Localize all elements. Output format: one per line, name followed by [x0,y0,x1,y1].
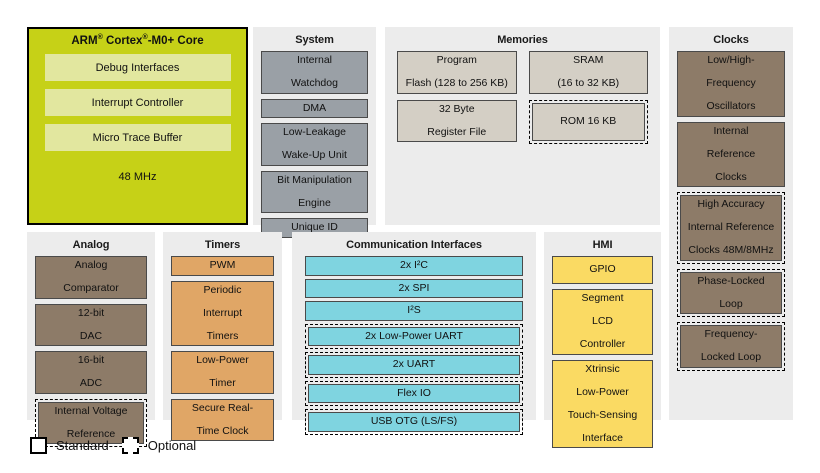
block-label-line: Interface [582,433,623,445]
block-system-low-leakage-wake-up-unit: Low-LeakageWake-Up Unit [261,123,368,166]
block-label-line: Internal Voltage [55,406,128,418]
panel-communication-interfaces: Communication Interfaces 2x I²C2x SPII²S… [292,232,536,420]
block-label-line: Phase-Locked [697,276,764,288]
panel-title-system: System [253,27,376,51]
block-timers-pwm: PWM [171,256,274,276]
optional-outline-rom-16-kb: ROM 16 KB [529,100,649,144]
block-memories-rom-16-kb: ROM 16 KB [532,103,646,141]
block-stack-clocks: Low/High-FrequencyOscillatorsInternalRef… [669,51,793,379]
legend-optional-swatch-icon [122,437,139,454]
core-subblock-debug-interfaces: Debug Interfaces [45,54,231,81]
block-label-line: Low-Power [576,387,629,399]
block-comm-i2s: I²S [305,301,523,321]
block-analog-16-bit-adc: 16-bitADC [35,351,147,394]
core-subblock-label: Debug Interfaces [96,62,180,74]
block-label-line: PWM [210,260,236,272]
block-label-line: 2x UART [393,359,435,371]
block-hmi-segment-lcd-controller: SegmentLCDController [552,289,653,355]
optional-outline-2x-low-power-uart: 2x Low-Power UART [305,324,523,350]
block-label-line: Program [437,55,477,67]
block-system-dma: DMA [261,99,368,119]
block-label-line: Engine [298,198,331,210]
block-stack-communication: 2x I²C2x SPII²S2x Low-Power UART2x UARTF… [292,256,536,443]
block-label-line: DAC [80,331,102,343]
legend-item-optional: Optional [122,437,196,454]
block-label-line: Periodic [204,285,242,297]
core-subblock-micro-trace-buffer: Micro Trace Buffer [45,124,231,151]
optional-outline-flex-io: Flex IO [305,381,523,407]
legend: Standard Optional [30,437,196,454]
block-label-line: Frequency- [704,329,757,341]
block-label-line: Segment [581,293,623,305]
block-label-line: Xtrinsic [585,364,619,376]
panel-hmi: HMI GPIOSegmentLCDControllerXtrinsicLow-… [544,232,661,420]
block-label-line: Clocks [715,172,747,184]
optional-outline-frequency-locked-loop: Frequency-Locked Loop [677,322,785,371]
block-label-line: Timers [207,331,239,343]
block-label-line: 2x I²C [400,260,428,272]
optional-outline-2x-uart: 2x UART [305,352,523,378]
legend-standard-swatch-icon [30,437,47,454]
block-label-line: Reference [707,149,755,161]
block-memories-program-flash-128-to-256-kb: ProgramFlash (128 to 256 KB) [397,51,517,94]
block-label-line: Comparator [63,283,118,295]
block-clocks-internal-reference-clocks: InternalReferenceClocks [677,122,785,188]
block-comm-2x-low-power-uart: 2x Low-Power UART [308,327,520,347]
block-timers-low-power-timer: Low-PowerTimer [171,351,274,394]
panel-analog: Analog AnalogComparator12-bitDAC16-bitAD… [27,232,155,420]
block-stack-system: InternalWatchdogDMALow-LeakageWake-Up Un… [253,51,376,246]
block-clocks-high-accuracy-internal-reference-clocks-48m-8mhz: High AccuracyInternal ReferenceClocks 48… [680,195,782,261]
block-clocks-phase-locked-loop: Phase-LockedLoop [680,272,782,315]
block-diagram-canvas: ARM® Cortex®-M0+ Core Debug Interfaces I… [0,0,820,473]
block-label-line: High Accuracy [697,199,764,211]
block-label-line: LCD [592,316,613,328]
block-label-line: Internal Reference [688,222,774,234]
block-timers-periodic-interrupt-timers: PeriodicInterruptTimers [171,281,274,347]
block-label-line: Clocks 48M/8MHz [688,245,773,257]
block-label-line: Locked Loop [701,352,761,364]
panel-title-timers: Timers [163,232,282,256]
block-label-line: Internal [297,55,332,67]
block-comm-2x-i2c: 2x I²C [305,256,523,276]
panel-title-communication: Communication Interfaces [292,232,536,256]
block-label-line: Bit Manipulation [277,175,352,187]
block-label-line: Loop [719,299,742,311]
block-label-line: Low-Leakage [283,127,346,139]
memories-columns: ProgramFlash (128 to 256 KB)32 ByteRegis… [385,51,660,144]
block-label-line: Controller [580,339,626,351]
core-subblock-interrupt-controller: Interrupt Controller [45,89,231,116]
block-label-line: Flash (128 to 256 KB) [406,78,508,90]
core-title: ARM® Cortex®-M0+ Core [71,35,203,47]
block-label-line: Interrupt [203,308,242,320]
arm-cortex-m0-core-block: ARM® Cortex®-M0+ Core Debug Interfaces I… [27,27,248,225]
block-label-line: Touch-Sensing [568,410,637,422]
panel-title-hmi: HMI [544,232,661,256]
block-stack-memories-right: SRAM(16 to 32 KB)ROM 16 KB [529,51,649,144]
block-comm-2x-spi: 2x SPI [305,279,523,299]
block-label-line: 32 Byte [439,104,475,116]
block-memories-sram-16-to-32-kb: SRAM(16 to 32 KB) [529,51,649,94]
panel-title-clocks: Clocks [669,27,793,51]
block-memories-32-byte-register-file: 32 ByteRegister File [397,100,517,143]
core-frequency-label: 48 MHz [119,171,157,183]
block-label-line: Secure Real- [192,403,253,415]
block-label-line: Internal [713,126,748,138]
block-comm-usb-otg-ls-fs: USB OTG (LS/FS) [308,412,520,432]
block-clocks-frequency-locked-loop: Frequency-Locked Loop [680,325,782,368]
block-label-line: Wake-Up Unit [282,150,347,162]
legend-item-standard: Standard [30,437,109,454]
block-comm-flex-io: Flex IO [308,384,520,404]
optional-outline-high-accuracy-internal-reference-clocks-48m-8mhz: High AccuracyInternal ReferenceClocks 48… [677,192,785,264]
block-system-internal-watchdog: InternalWatchdog [261,51,368,94]
block-analog-12-bit-dac: 12-bitDAC [35,304,147,347]
block-label-line: Low-Power [196,355,249,367]
block-timers-secure-real-time-clock: Secure Real-Time Clock [171,399,274,442]
block-system-bit-manipulation-engine: Bit ManipulationEngine [261,171,368,214]
block-comm-2x-uart: 2x UART [308,355,520,375]
panel-title-analog: Analog [27,232,155,256]
core-subblock-label: Micro Trace Buffer [93,132,183,144]
block-label-line: 16-bit [78,355,104,367]
block-clocks-low-high-frequency-oscillators: Low/High-FrequencyOscillators [677,51,785,117]
block-label-line: 2x Low-Power UART [365,331,463,343]
block-label-line: 12-bit [78,308,104,320]
block-label-line: USB OTG (LS/FS) [371,416,457,428]
block-hmi-gpio: GPIO [552,256,653,284]
panel-system: System InternalWatchdogDMALow-LeakageWak… [253,27,376,225]
block-label-line: Analog [75,260,108,272]
block-hmi-xtrinsic-low-power-touch-sensing-interface: XtrinsicLow-PowerTouch-SensingInterface [552,360,653,449]
block-label-line: Oscillators [706,101,755,113]
block-label-line: Watchdog [291,78,338,90]
block-stack-hmi: GPIOSegmentLCDControllerXtrinsicLow-Powe… [544,256,661,456]
block-label-line: Register File [427,127,486,139]
block-stack-timers: PWMPeriodicInterruptTimersLow-PowerTimer… [163,256,282,449]
block-label-line: DMA [303,103,326,115]
block-label-line: ADC [80,378,102,390]
block-analog-analog-comparator: AnalogComparator [35,256,147,299]
block-label-line: 2x SPI [399,283,430,295]
panel-title-memories: Memories [385,27,660,51]
block-label-line: I²S [407,305,420,317]
panel-clocks: Clocks Low/High-FrequencyOscillatorsInte… [669,27,793,420]
block-label-line: ROM 16 KB [560,116,616,128]
block-label-line: Low/High- [707,55,754,67]
block-label-line: GPIO [589,264,615,276]
block-label-line: Frequency [706,78,756,90]
panel-timers: Timers PWMPeriodicInterruptTimersLow-Pow… [163,232,282,420]
block-stack-analog: AnalogComparator12-bitDAC16-bitADCIntern… [27,256,155,455]
block-label-line: Time Clock [196,426,248,438]
optional-outline-usb-otg-ls-fs: USB OTG (LS/FS) [305,409,523,435]
panel-memories: Memories ProgramFlash (128 to 256 KB)32 … [385,27,660,225]
block-label-line: Timer [209,378,235,390]
block-stack-memories-left: ProgramFlash (128 to 256 KB)32 ByteRegis… [397,51,517,144]
block-label-line: SRAM [573,55,603,67]
optional-outline-phase-locked-loop: Phase-LockedLoop [677,269,785,318]
legend-standard-label: Standard [56,438,109,453]
block-label-line: (16 to 32 KB) [557,78,619,90]
core-subblock-label: Interrupt Controller [92,97,184,109]
block-label-line: Flex IO [397,388,431,400]
legend-optional-label: Optional [148,438,196,453]
